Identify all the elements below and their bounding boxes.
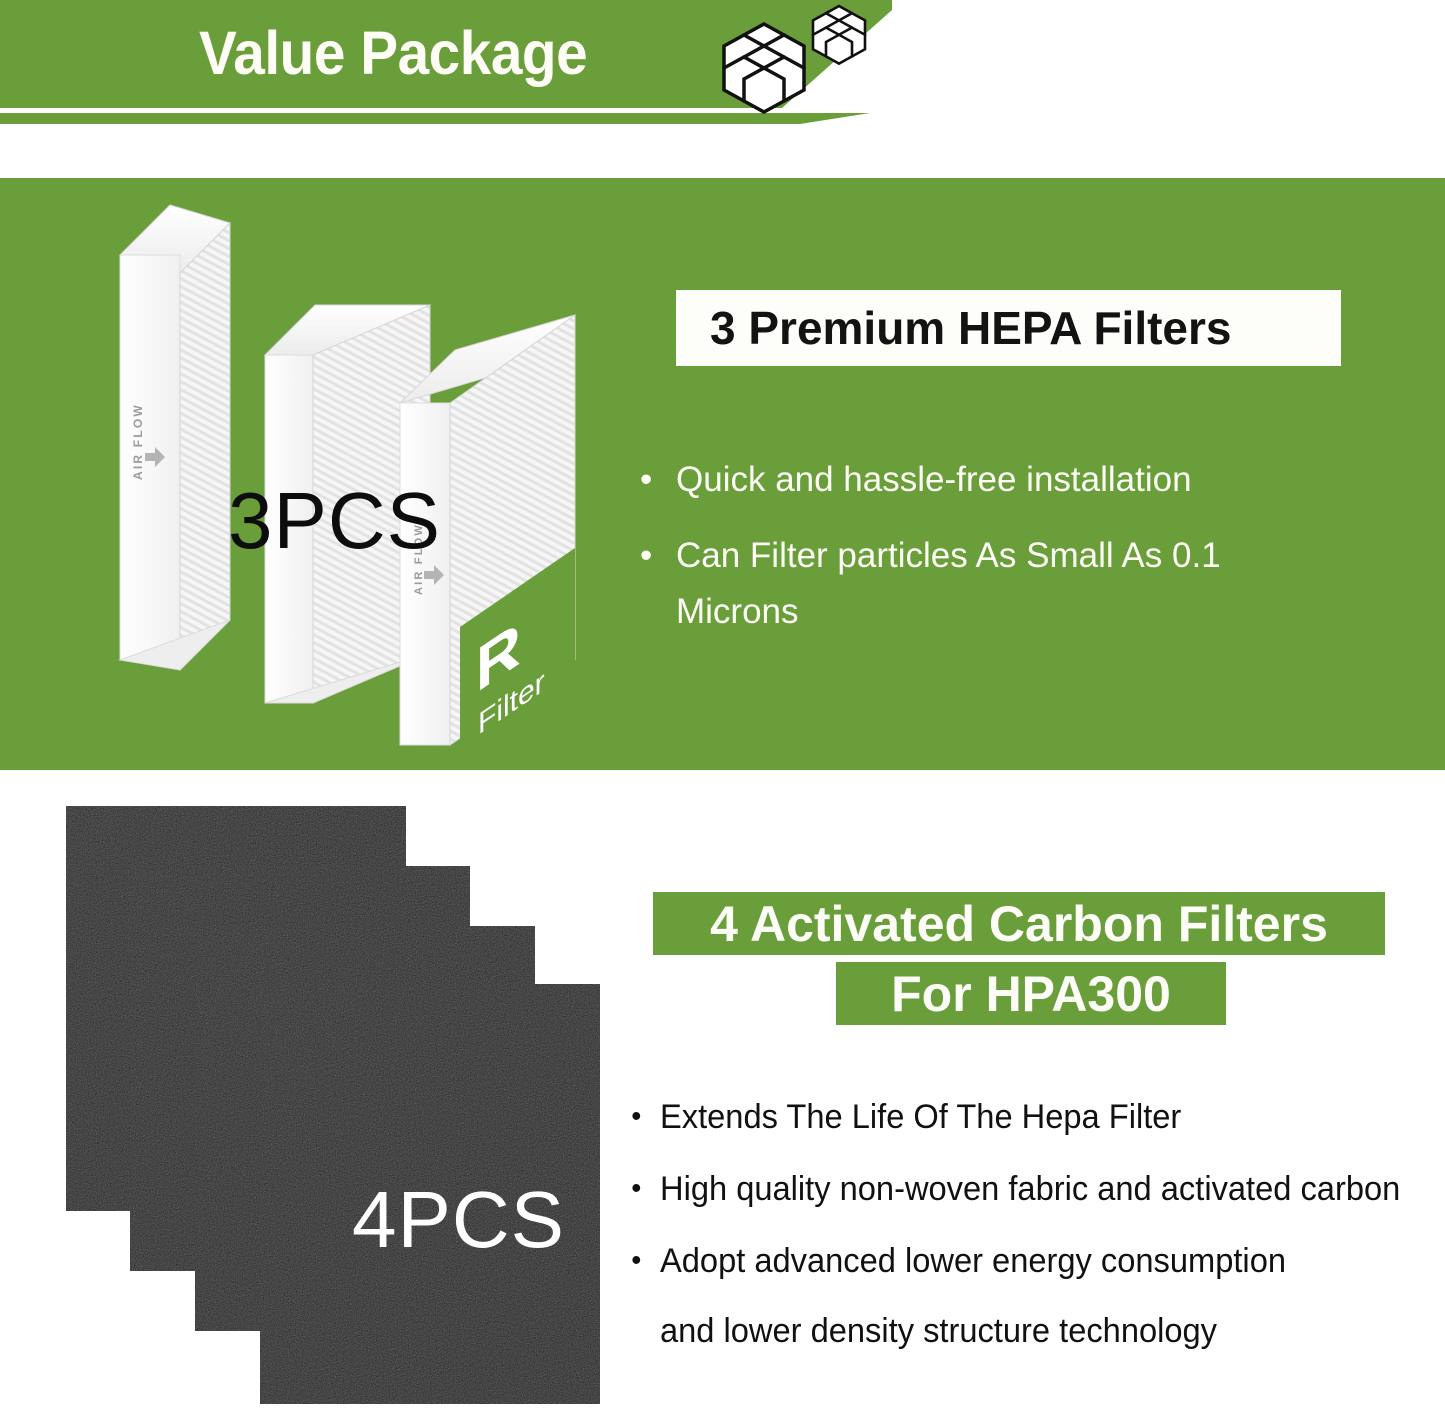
- page-title: Value Package: [199, 8, 587, 98]
- carbon-heading-box-primary: 4 Activated Carbon Filters: [653, 892, 1385, 955]
- list-item: • Extends The Life Of The Hepa Filter: [660, 1093, 1418, 1141]
- carbon-heading-box-secondary: For HPA300: [836, 962, 1226, 1025]
- honeycomb-hexagon-cluster-small-icon: [810, 3, 898, 85]
- list-item: • Quick and hassle-free installation: [676, 452, 1336, 508]
- list-item-text: High quality non-woven fabric and activa…: [660, 1170, 1400, 1208]
- list-item-text: Quick and hassle-free installation: [676, 460, 1192, 499]
- carbon-quantity-label: 4PCS: [352, 1180, 565, 1260]
- hepa-filter-unit-1: AIR FLOW: [120, 205, 230, 670]
- list-item: • Adopt advanced lower energy consumptio…: [660, 1237, 1418, 1355]
- list-item-text: Adopt advanced lower energy consumption: [660, 1242, 1286, 1280]
- infographic-page: Value Package: [0, 0, 1445, 1422]
- svg-text:AIR FLOW: AIR FLOW: [131, 403, 145, 480]
- hepa-heading-box: 3 Premium HEPA Filters: [676, 290, 1341, 366]
- hepa-quantity-label: 3PCS: [228, 481, 441, 561]
- hepa-feature-list: • Quick and hassle-free installation • C…: [676, 452, 1336, 660]
- bullet-marker-icon: •: [631, 1165, 641, 1213]
- list-item: • High quality non-woven fabric and acti…: [660, 1165, 1418, 1213]
- list-item-text: Extends The Life Of The Hepa Filter: [660, 1098, 1181, 1136]
- list-item: • Can Filter particles As Small As 0.1 M…: [676, 528, 1336, 640]
- carbon-heading-text-line-1: 4 Activated Carbon Filters: [710, 895, 1328, 953]
- carbon-feature-list: • Extends The Life Of The Hepa Filter • …: [660, 1093, 1445, 1379]
- hepa-heading-text: 3 Premium HEPA Filters: [676, 301, 1232, 355]
- carbon-heading-text-line-2: For HPA300: [891, 965, 1171, 1023]
- list-item-text: Can Filter particles As Small As 0.1 Mic…: [676, 536, 1221, 631]
- bullet-marker-icon: •: [631, 1093, 641, 1141]
- bullet-marker-icon: •: [640, 452, 652, 508]
- carbon-filter-product-illustration: [60, 800, 630, 1415]
- list-item-text-continuation: and lower density structure technology: [660, 1307, 1418, 1355]
- air-flow-label-1: AIR FLOW: [131, 403, 145, 480]
- bullet-marker-icon: •: [640, 528, 652, 584]
- bullet-marker-icon: •: [631, 1237, 641, 1285]
